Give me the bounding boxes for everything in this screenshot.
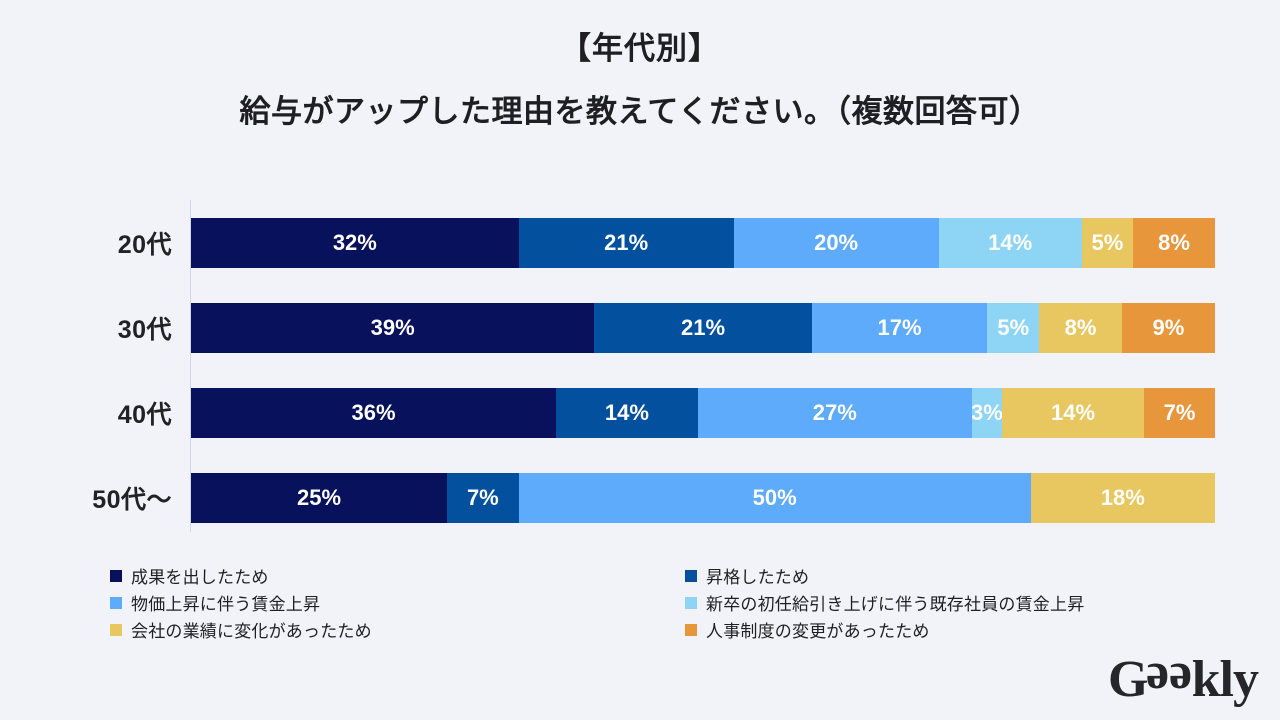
legend-item[interactable]: 人事制度の変更があったため xyxy=(685,617,1220,642)
bar-segment: 5% xyxy=(987,303,1039,353)
bar-segment: 14% xyxy=(556,388,698,438)
category-label-3: 50代〜 xyxy=(0,473,172,523)
bar-segment: 21% xyxy=(519,218,734,268)
legend-item[interactable]: 昇格したため xyxy=(685,563,1220,588)
bar-segment: 9% xyxy=(1122,303,1215,353)
bar-row: 20代32%21%20%14%5%8% xyxy=(0,218,1280,268)
bar-row: 40代36%14%27%3%14%7% xyxy=(0,388,1280,438)
bar-segment: 14% xyxy=(939,218,1082,268)
legend-label: 昇格したため xyxy=(706,563,809,588)
bar-track: 36%14%27%3%14%7% xyxy=(191,388,1215,438)
category-label-2: 40代 xyxy=(0,388,172,438)
legend-item[interactable]: 成果を出したため xyxy=(110,563,685,588)
bar-segment: 7% xyxy=(1144,388,1215,438)
bar-track: 25%7%50%18% xyxy=(191,473,1215,523)
legend-swatch-icon xyxy=(685,624,697,636)
logo-rotated-e-2: e xyxy=(1170,654,1192,706)
legend-item[interactable]: 会社の業績に変化があったため xyxy=(110,617,685,642)
bar-row: 30代39%21%17%5%8%9% xyxy=(0,303,1280,353)
bar-segment: 8% xyxy=(1133,218,1215,268)
legend-swatch-icon xyxy=(685,597,697,609)
bar-row: 50代〜25%7%50%18% xyxy=(0,473,1280,523)
legend-label: 成果を出したため xyxy=(131,563,269,588)
logo-rotated-e-1: e xyxy=(1147,654,1169,706)
page-title-line-1: 【年代別】 xyxy=(0,30,1280,69)
legend-swatch-icon xyxy=(110,570,122,582)
page-title-line-2: 給与がアップした理由を教えてください。（複数回答可） xyxy=(0,93,1280,132)
bar-segment: 21% xyxy=(594,303,811,353)
bar-segment: 32% xyxy=(191,218,519,268)
bar-segment: 17% xyxy=(812,303,988,353)
stacked-bar-chart: 20代32%21%20%14%5%8%30代39%21%17%5%8%9%40代… xyxy=(0,200,1280,535)
legend-label: 新卒の初任給引き上げに伴う既存社員の賃金上昇 xyxy=(706,590,1084,615)
legend-item[interactable]: 新卒の初任給引き上げに伴う既存社員の賃金上昇 xyxy=(685,590,1220,615)
legend-item[interactable]: 物価上昇に伴う賃金上昇 xyxy=(110,590,685,615)
chart-title-block: 【年代別】 給与がアップした理由を教えてください。（複数回答可） xyxy=(0,30,1280,132)
bar-segment: 36% xyxy=(191,388,556,438)
bar-track: 32%21%20%14%5%8% xyxy=(191,218,1215,268)
legend-label: 会社の業績に変化があったため xyxy=(131,617,372,642)
category-label-1: 30代 xyxy=(0,303,172,353)
logo-text-part-1: G xyxy=(1108,654,1147,706)
legend-swatch-icon xyxy=(110,624,122,636)
bar-segment: 25% xyxy=(191,473,447,523)
bar-segment: 39% xyxy=(191,303,594,353)
bar-segment: 18% xyxy=(1031,473,1215,523)
bar-segment: 8% xyxy=(1039,303,1122,353)
category-label-0: 20代 xyxy=(0,218,172,268)
bar-segment: 50% xyxy=(519,473,1031,523)
bar-track: 39%21%17%5%8%9% xyxy=(191,303,1215,353)
legend-label: 人事制度の変更があったため xyxy=(706,617,930,642)
chart-legend: 成果を出したため昇格したため物価上昇に伴う賃金上昇新卒の初任給引き上げに伴う既存… xyxy=(110,562,1220,643)
bar-segment: 7% xyxy=(447,473,519,523)
bar-segment: 14% xyxy=(1002,388,1144,438)
geekly-logo: Geekly xyxy=(1108,654,1258,706)
bar-segment: 20% xyxy=(734,218,939,268)
bar-segment: 3% xyxy=(972,388,1002,438)
legend-swatch-icon xyxy=(685,570,697,582)
legend-swatch-icon xyxy=(110,597,122,609)
legend-label: 物価上昇に伴う賃金上昇 xyxy=(131,590,320,615)
bar-segment: 5% xyxy=(1082,218,1133,268)
logo-text-part-2: kly xyxy=(1192,654,1258,706)
bar-segment: 27% xyxy=(698,388,972,438)
